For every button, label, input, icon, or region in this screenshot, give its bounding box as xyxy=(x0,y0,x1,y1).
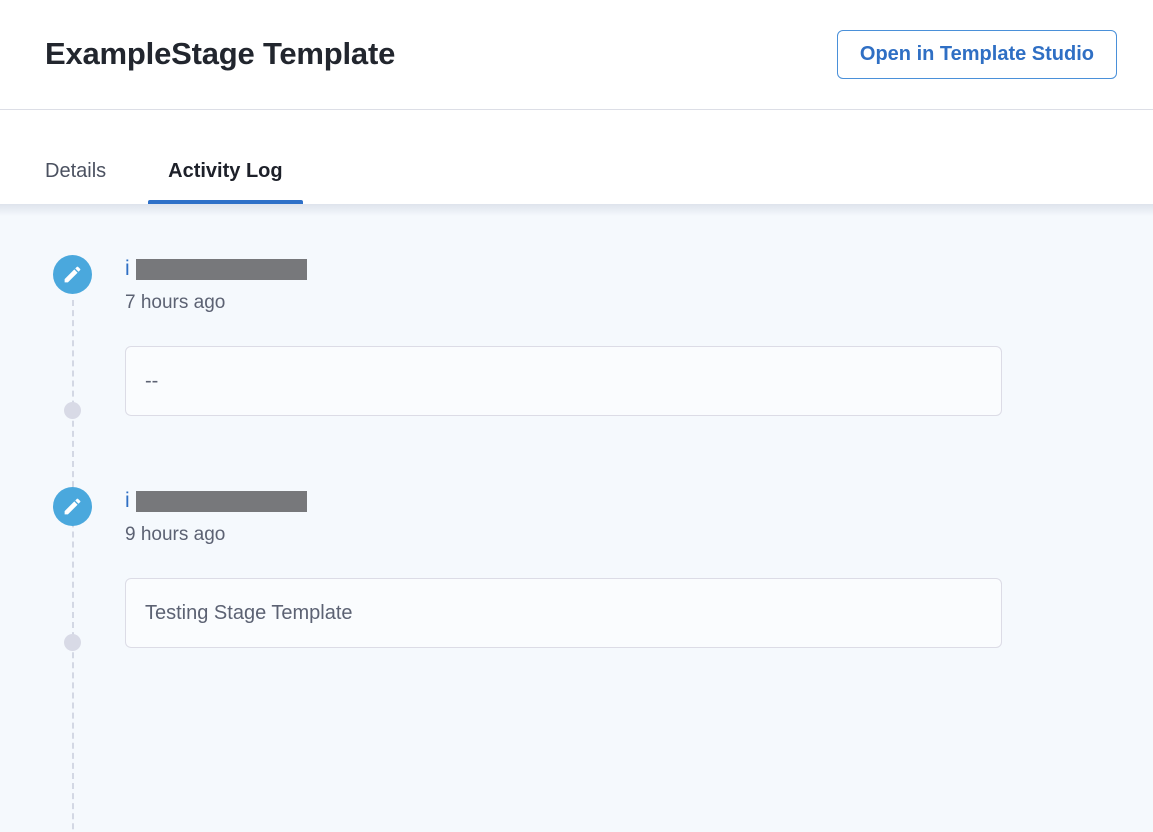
open-in-template-studio-button[interactable]: Open in Template Studio xyxy=(837,30,1117,79)
actor-link[interactable]: i xyxy=(125,257,130,280)
actor-name: i xyxy=(125,489,130,512)
activity-timeline: i updated v1 7 hours ago -- i created v1… xyxy=(0,204,1153,648)
pencil-icon xyxy=(53,255,92,294)
version-link[interactable]: v1 xyxy=(217,257,239,280)
activity-headline: i created v1 xyxy=(125,487,1153,515)
activity-entry: i created v1 9 hours ago Testing Stage T… xyxy=(0,487,1153,648)
version-link[interactable]: v1 xyxy=(211,489,233,512)
activity-timestamp: 7 hours ago xyxy=(125,290,1153,316)
tab-bar: Details Activity Log xyxy=(0,110,1153,204)
page-title: ExampleStage Template xyxy=(45,37,395,71)
actor-name: i xyxy=(125,257,130,280)
activity-headline: i updated v1 xyxy=(125,255,1153,283)
activity-log-panel: i updated v1 7 hours ago -- i created v1… xyxy=(0,204,1153,832)
tab-details[interactable]: Details xyxy=(25,160,126,204)
activity-comment: -- xyxy=(125,346,1002,416)
activity-timestamp: 9 hours ago xyxy=(125,522,1153,548)
activity-action: updated xyxy=(130,257,218,280)
activity-comment: Testing Stage Template xyxy=(125,578,1002,648)
timeline-dot xyxy=(64,634,81,651)
actor-link[interactable]: i xyxy=(125,489,130,512)
activity-action: created xyxy=(130,489,212,512)
tab-activity-log[interactable]: Activity Log xyxy=(148,160,302,204)
page-header: ExampleStage Template Open in Template S… xyxy=(0,0,1153,110)
pencil-icon xyxy=(53,487,92,526)
activity-entry: i updated v1 7 hours ago -- xyxy=(0,255,1153,416)
timeline-dot xyxy=(64,402,81,419)
